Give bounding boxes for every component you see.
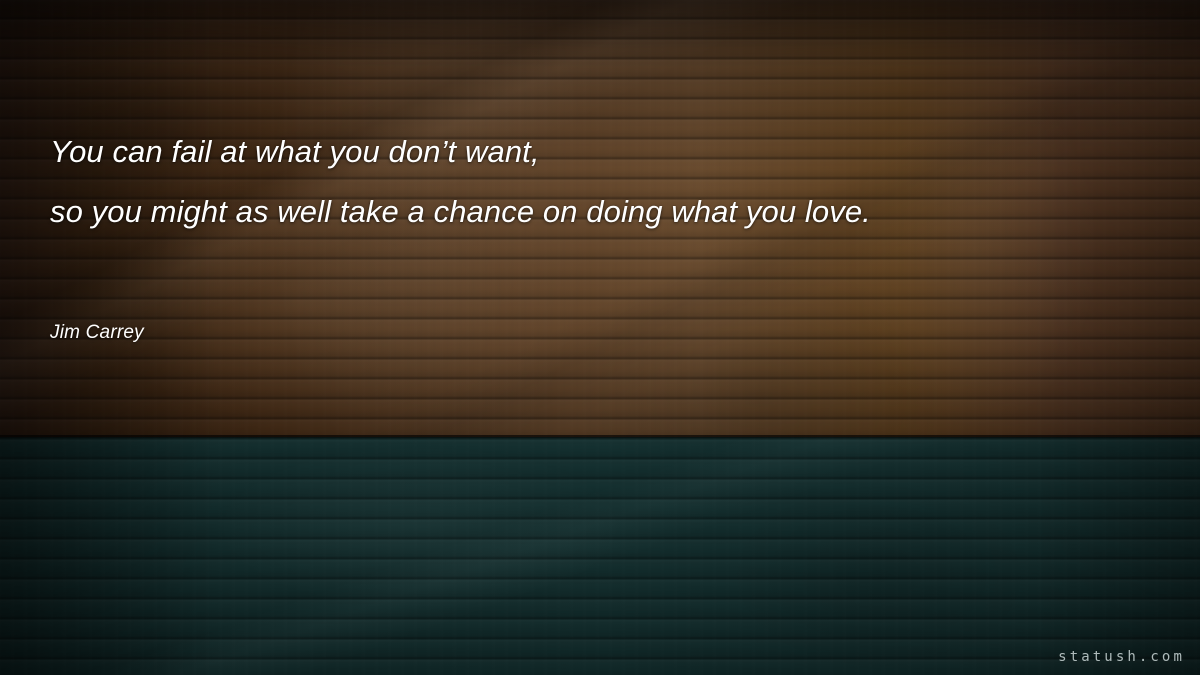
- quote-text-block: You can fail at what you don’t want, so …: [50, 122, 1150, 242]
- background-bottom-panel: [0, 437, 1200, 675]
- quote-line-2: so you might as well take a chance on do…: [50, 182, 1150, 242]
- quote-image-canvas: You can fail at what you don’t want, so …: [0, 0, 1200, 675]
- quote-author: Jim Carrey: [50, 322, 144, 344]
- quote-line-1: You can fail at what you don’t want,: [50, 122, 1150, 182]
- site-watermark: statush.com: [1058, 649, 1185, 665]
